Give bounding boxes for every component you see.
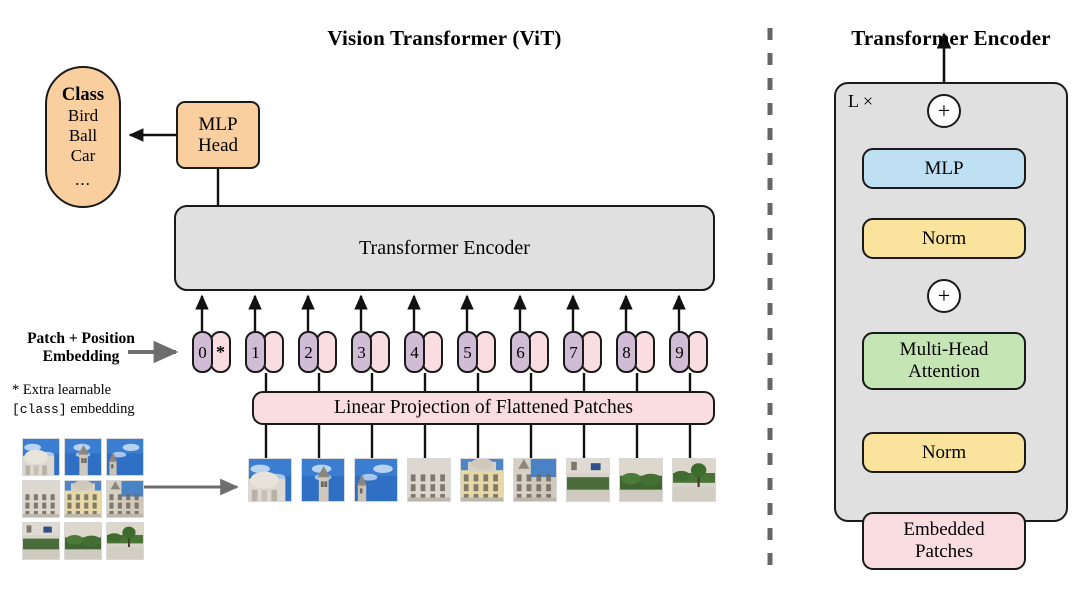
right-panel-title: Transformer Encoder: [806, 26, 1080, 51]
diagram-canvas: Vision Transformer (ViT) Class Bird Ball…: [0, 0, 1080, 593]
norm-block-top-label: Norm: [922, 228, 966, 250]
repeat-count-label: L ×: [848, 92, 873, 110]
class-item-car: Car: [71, 146, 96, 166]
embedded-patches-line2: Patches: [915, 541, 973, 563]
token-position-5: 5: [457, 331, 478, 373]
token-embedding-4: [422, 331, 443, 373]
token-position-6: 6: [510, 331, 531, 373]
flattened-patch-8: [619, 458, 663, 502]
class-item-ball: Ball: [69, 126, 97, 146]
mlp-head-line2: Head: [198, 135, 238, 156]
mha-line1: Multi-Head: [900, 339, 989, 361]
flattened-patch-5: [460, 458, 504, 502]
token-position-0: 0: [192, 331, 213, 373]
flattened-patch-6: [513, 458, 557, 502]
class-output-box: Class Bird Ball Car ...: [45, 66, 121, 208]
extra-learnable-note: * Extra learnable [class] embedding: [12, 381, 172, 419]
token-embedding-1: [263, 331, 284, 373]
source-patch-r1-c0: [22, 480, 60, 518]
embedded-patches-line1: Embedded: [903, 519, 984, 541]
token-position-8: 8: [616, 331, 637, 373]
patch-position-line2: Embedding: [6, 348, 156, 366]
residual-add-top: +: [927, 94, 961, 128]
token-position-3: 3: [351, 331, 372, 373]
token-embedding-5: [475, 331, 496, 373]
mlp-block: MLP: [862, 148, 1026, 189]
token-6: 6: [510, 331, 550, 373]
token-embedding-0: *: [210, 331, 231, 373]
source-patch-r1-c1: [64, 480, 102, 518]
patch-position-embedding-label: Patch + Position Embedding: [6, 330, 156, 367]
residual-add-bottom: +: [927, 279, 961, 313]
flattened-patch-3: [354, 458, 398, 502]
source-patch-r2-c0: [22, 522, 60, 560]
extra-learnable-line1: * Extra learnable: [12, 381, 172, 400]
source-patch-r0-c0: [22, 438, 60, 476]
mlp-head-line1: MLP: [198, 114, 237, 135]
patch-position-line1: Patch + Position: [6, 330, 156, 348]
class-token-star-icon: *: [216, 343, 225, 361]
token-position-4: 4: [404, 331, 425, 373]
flattened-patch-9: [672, 458, 716, 502]
token-embedding-6: [528, 331, 549, 373]
right-panel-title-text: Transformer Encoder: [851, 26, 1051, 50]
norm-block-bottom: Norm: [862, 432, 1026, 473]
mlp-block-label: MLP: [924, 158, 963, 180]
source-patch-r0-c1: [64, 438, 102, 476]
token-7: 7: [563, 331, 603, 373]
token-3: 3: [351, 331, 391, 373]
source-patch-r2-c1: [64, 522, 102, 560]
token-0: *0: [192, 331, 232, 373]
embedded-patches-block: Embedded Patches: [862, 512, 1026, 570]
residual-add-bottom-symbol: +: [938, 285, 950, 307]
flattened-patch-1: [248, 458, 292, 502]
residual-add-top-symbol: +: [938, 100, 950, 122]
mha-line2: Attention: [908, 361, 980, 383]
class-item-bird: Bird: [68, 106, 98, 126]
linear-projection-box: Linear Projection of Flattened Patches: [252, 391, 715, 425]
left-panel-title-text: Vision Transformer (ViT): [327, 26, 561, 50]
flattened-patch-2: [301, 458, 345, 502]
class-ellipsis: ...: [75, 170, 91, 189]
extra-learnable-tail: embedding: [67, 401, 135, 417]
multi-head-attention-block: Multi-Head Attention: [862, 332, 1026, 390]
token-8: 8: [616, 331, 656, 373]
token-position-2: 2: [298, 331, 319, 373]
class-heading: Class: [62, 85, 104, 106]
token-embedding-7: [581, 331, 602, 373]
left-panel-title: Vision Transformer (ViT): [182, 26, 707, 51]
token-1: 1: [245, 331, 285, 373]
transformer-encoder-box: Transformer Encoder: [174, 205, 715, 291]
token-embedding-8: [634, 331, 655, 373]
token-position-1: 1: [245, 331, 266, 373]
linear-projection-label: Linear Projection of Flattened Patches: [334, 397, 633, 419]
token-4: 4: [404, 331, 444, 373]
source-patch-r0-c2: [106, 438, 144, 476]
token-5: 5: [457, 331, 497, 373]
token-embedding-2: [316, 331, 337, 373]
transformer-encoder-label: Transformer Encoder: [359, 237, 530, 259]
token-embedding-3: [369, 331, 390, 373]
flattened-patch-4: [407, 458, 451, 502]
norm-block-top: Norm: [862, 218, 1026, 259]
source-patch-r1-c2: [106, 480, 144, 518]
token-2: 2: [298, 331, 338, 373]
token-position-9: 9: [669, 331, 690, 373]
token-9: 9: [669, 331, 709, 373]
class-token-mono: [class]: [12, 402, 67, 417]
mlp-head-box: MLP Head: [176, 101, 260, 169]
flattened-patch-7: [566, 458, 610, 502]
extra-learnable-line2: [class] embedding: [12, 400, 172, 419]
source-patch-r2-c2: [106, 522, 144, 560]
token-position-7: 7: [563, 331, 584, 373]
norm-block-bottom-label: Norm: [922, 442, 966, 464]
token-embedding-9: [687, 331, 708, 373]
